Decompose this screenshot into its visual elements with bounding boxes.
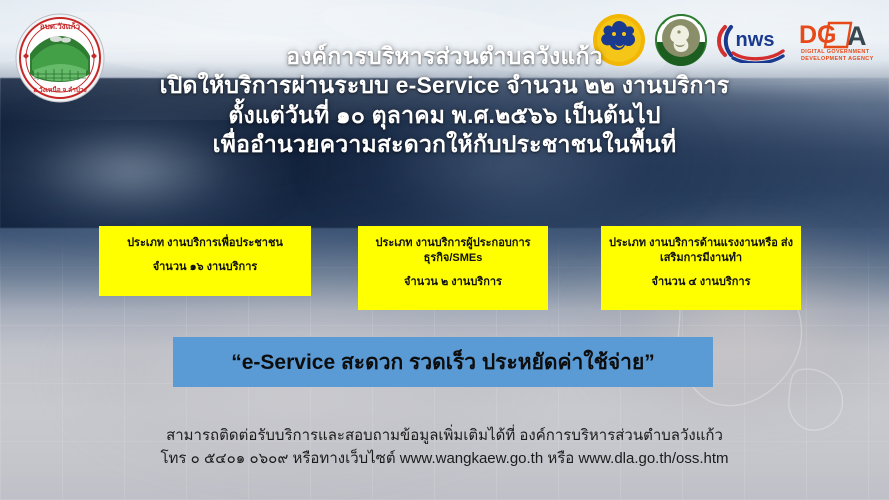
category-label: ประเภท งานบริการผู้ประกอบการ ธุรกิจ/SMEs <box>364 236 542 266</box>
headline-line-1: องค์การบริหารส่วนตำบลวังแก้ว <box>0 42 889 71</box>
headline-line-3: ตั้งแต่วันที่ ๑๐ ตุลาคม พ.ศ.๒๕๖๖ เป็นต้น… <box>0 101 889 130</box>
category-count: จำนวน ๒ งานบริการ <box>364 275 542 290</box>
slogan-banner: “e-Service สะดวก รวดเร็ว ประหยัดค่าใช้จ่… <box>173 337 713 387</box>
svg-text:อบต.วังแก้ว: อบต.วังแก้ว <box>40 21 81 31</box>
category-label: ประเภท งานบริการเพื่อประชาชน <box>105 236 305 251</box>
category-box-business-sme-services: ประเภท งานบริการผู้ประกอบการ ธุรกิจ/SMEs… <box>358 226 548 310</box>
slogan-text: “e-Service สะดวก รวดเร็ว ประหยัดค่าใช้จ่… <box>231 346 655 379</box>
footer-contact-block: สามารถติดต่อรับบริการและสอบถามข้อมูลเพิ่… <box>0 424 889 471</box>
headline-line-2: เปิดให้บริการผ่านระบบ e-Service จำนวน ๒๒… <box>0 71 889 100</box>
category-count: จำนวน ๑๖ งานบริการ <box>105 260 305 275</box>
category-count: จำนวน ๔ งานบริการ <box>607 275 795 290</box>
service-category-boxes: ประเภท งานบริการเพื่อประชาชน จำนวน ๑๖ งา… <box>0 226 889 312</box>
eservice-announcement-poster: อบต.วังแก้ว อ.วังเหนือ จ.ลำปาง <box>0 0 889 500</box>
category-label: ประเภท งานบริการด้านแรงงานหรือ ส่งเสริมก… <box>607 236 795 266</box>
headline-block: องค์การบริหารส่วนตำบลวังแก้ว เปิดให้บริก… <box>0 42 889 160</box>
category-box-citizen-services: ประเภท งานบริการเพื่อประชาชน จำนวน ๑๖ งา… <box>99 226 311 296</box>
footer-line-1: สามารถติดต่อรับบริการและสอบถามข้อมูลเพิ่… <box>0 424 889 447</box>
headline-line-4: เพื่ออำนวยความสะดวกให้กับประชาชนในพื้นที… <box>0 130 889 159</box>
category-box-labour-employment-services: ประเภท งานบริการด้านแรงงานหรือ ส่งเสริมก… <box>601 226 801 310</box>
footer-line-2: โทร ๐ ๕๔๐๑ ๐๖๐๙ หรือทางเว็บไซต์ www.wang… <box>0 447 889 470</box>
